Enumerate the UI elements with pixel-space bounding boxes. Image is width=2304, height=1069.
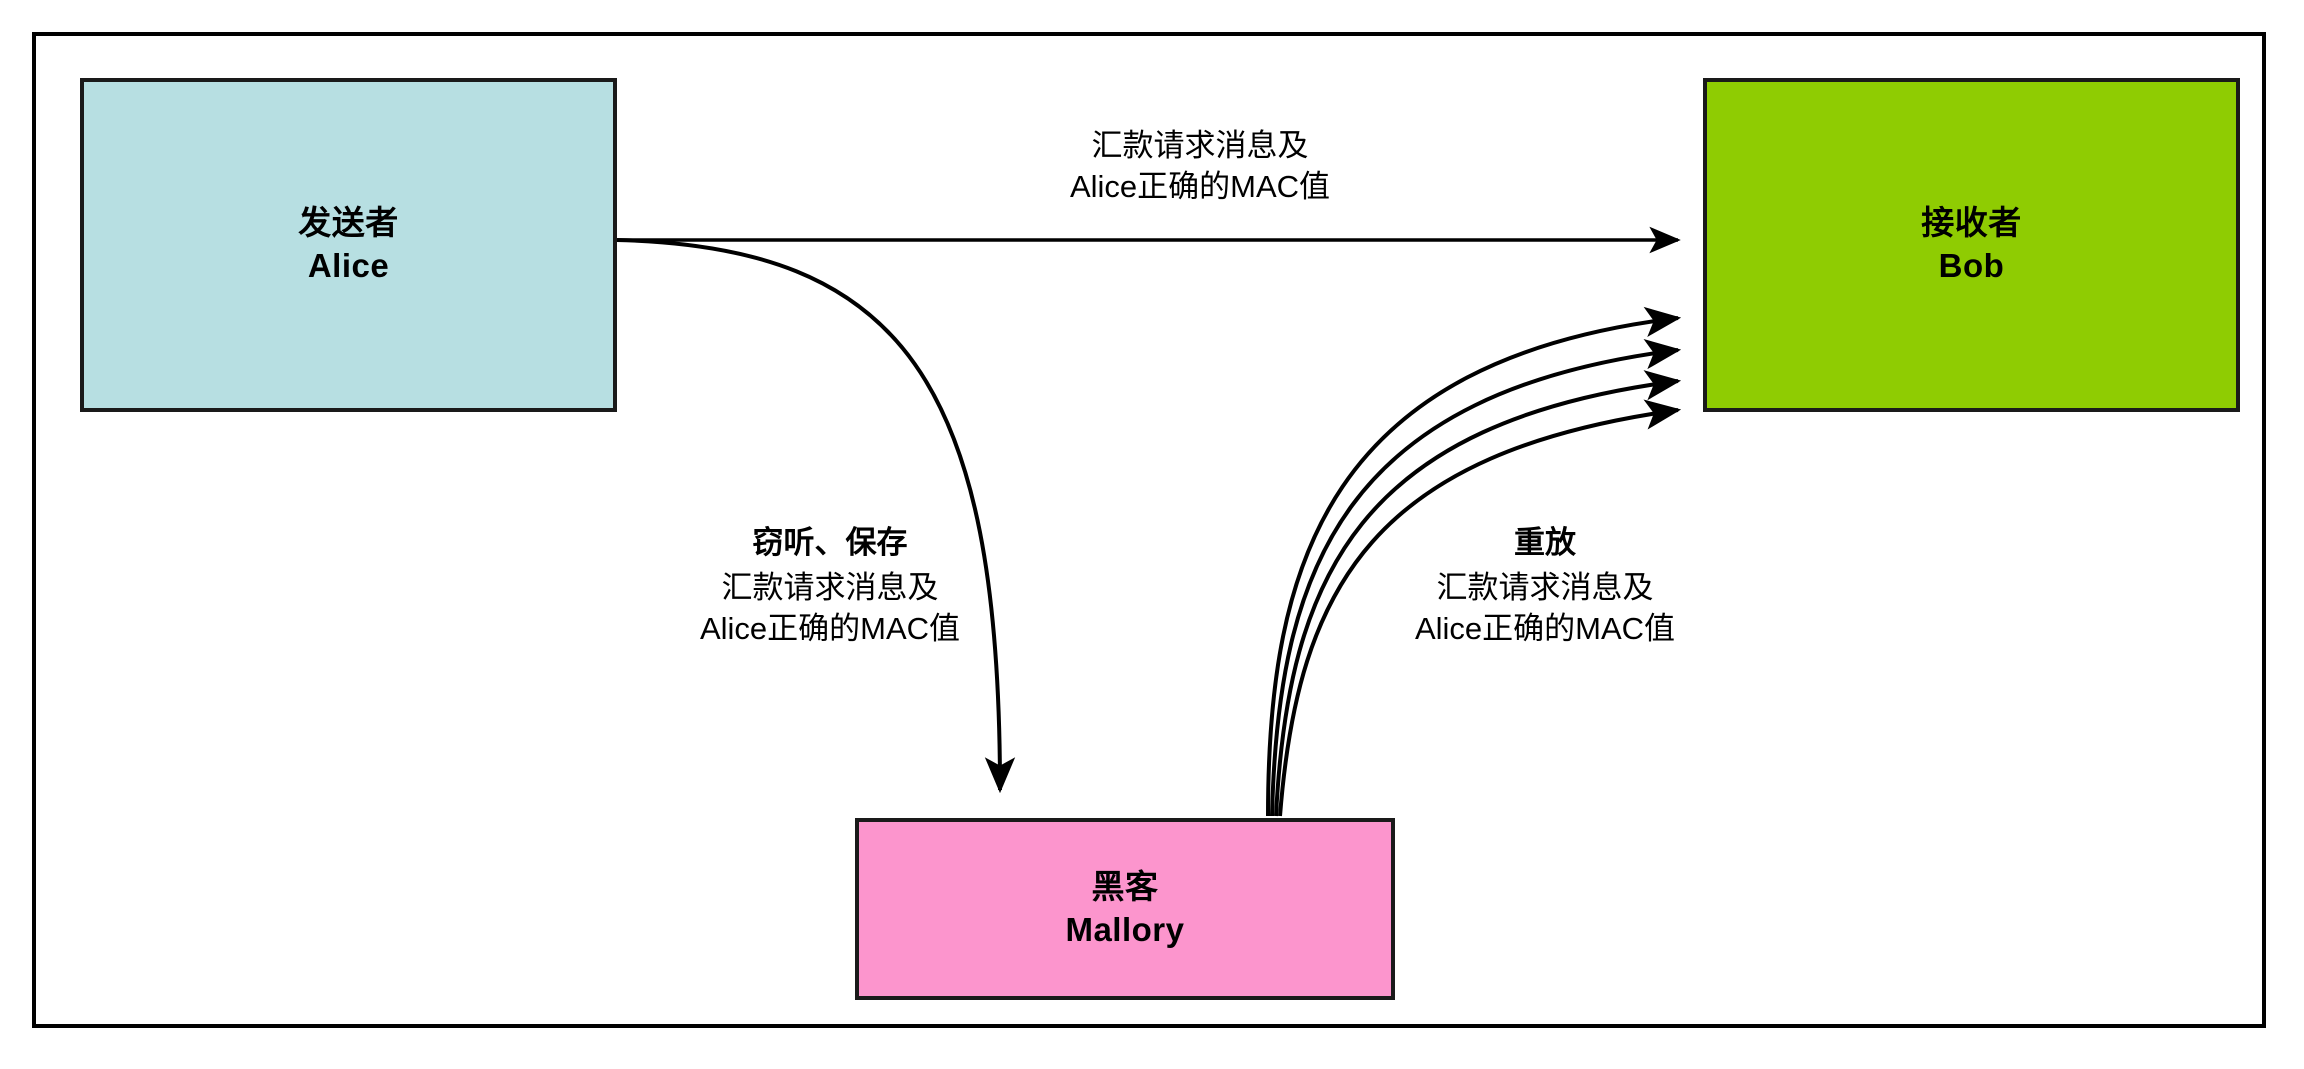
diagram-canvas: 发送者 Alice 接收者 Bob 黑客 Mallory 汇款请求消息及 Ali… (0, 0, 2304, 1069)
node-alice[interactable]: 发送者 Alice (80, 78, 617, 412)
node-mallory-name: Mallory (1065, 909, 1184, 952)
node-alice-name: Alice (308, 245, 389, 288)
edge-label-mallory-to-bob-line2: Alice正确的MAC值 (1275, 608, 1815, 649)
node-mallory[interactable]: 黑客 Mallory (855, 818, 1395, 1000)
node-mallory-role: 黑客 (1092, 866, 1159, 909)
node-bob-name: Bob (1939, 245, 2005, 288)
edge-label-alice-to-mallory: 窃听、保存 汇款请求消息及 Alice正确的MAC值 (560, 522, 1100, 650)
edge-label-mallory-to-bob: 重放 汇款请求消息及 Alice正确的MAC值 (1275, 522, 1815, 650)
edge-label-alice-to-mallory-line2: Alice正确的MAC值 (560, 608, 1100, 649)
node-bob-role: 接收者 (1921, 202, 2022, 245)
node-alice-role: 发送者 (298, 202, 399, 245)
edge-label-alice-to-bob-line2: Alice正确的MAC值 (870, 166, 1530, 207)
edge-label-alice-to-mallory-line1: 汇款请求消息及 (560, 567, 1100, 608)
edge-label-mallory-to-bob-line1: 汇款请求消息及 (1275, 567, 1815, 608)
edge-label-alice-to-bob-line1: 汇款请求消息及 (870, 125, 1530, 166)
edge-label-alice-to-mallory-title: 窃听、保存 (560, 522, 1100, 563)
node-bob[interactable]: 接收者 Bob (1703, 78, 2240, 412)
edge-label-alice-to-bob: 汇款请求消息及 Alice正确的MAC值 (870, 125, 1530, 207)
edge-label-mallory-to-bob-title: 重放 (1275, 522, 1815, 563)
